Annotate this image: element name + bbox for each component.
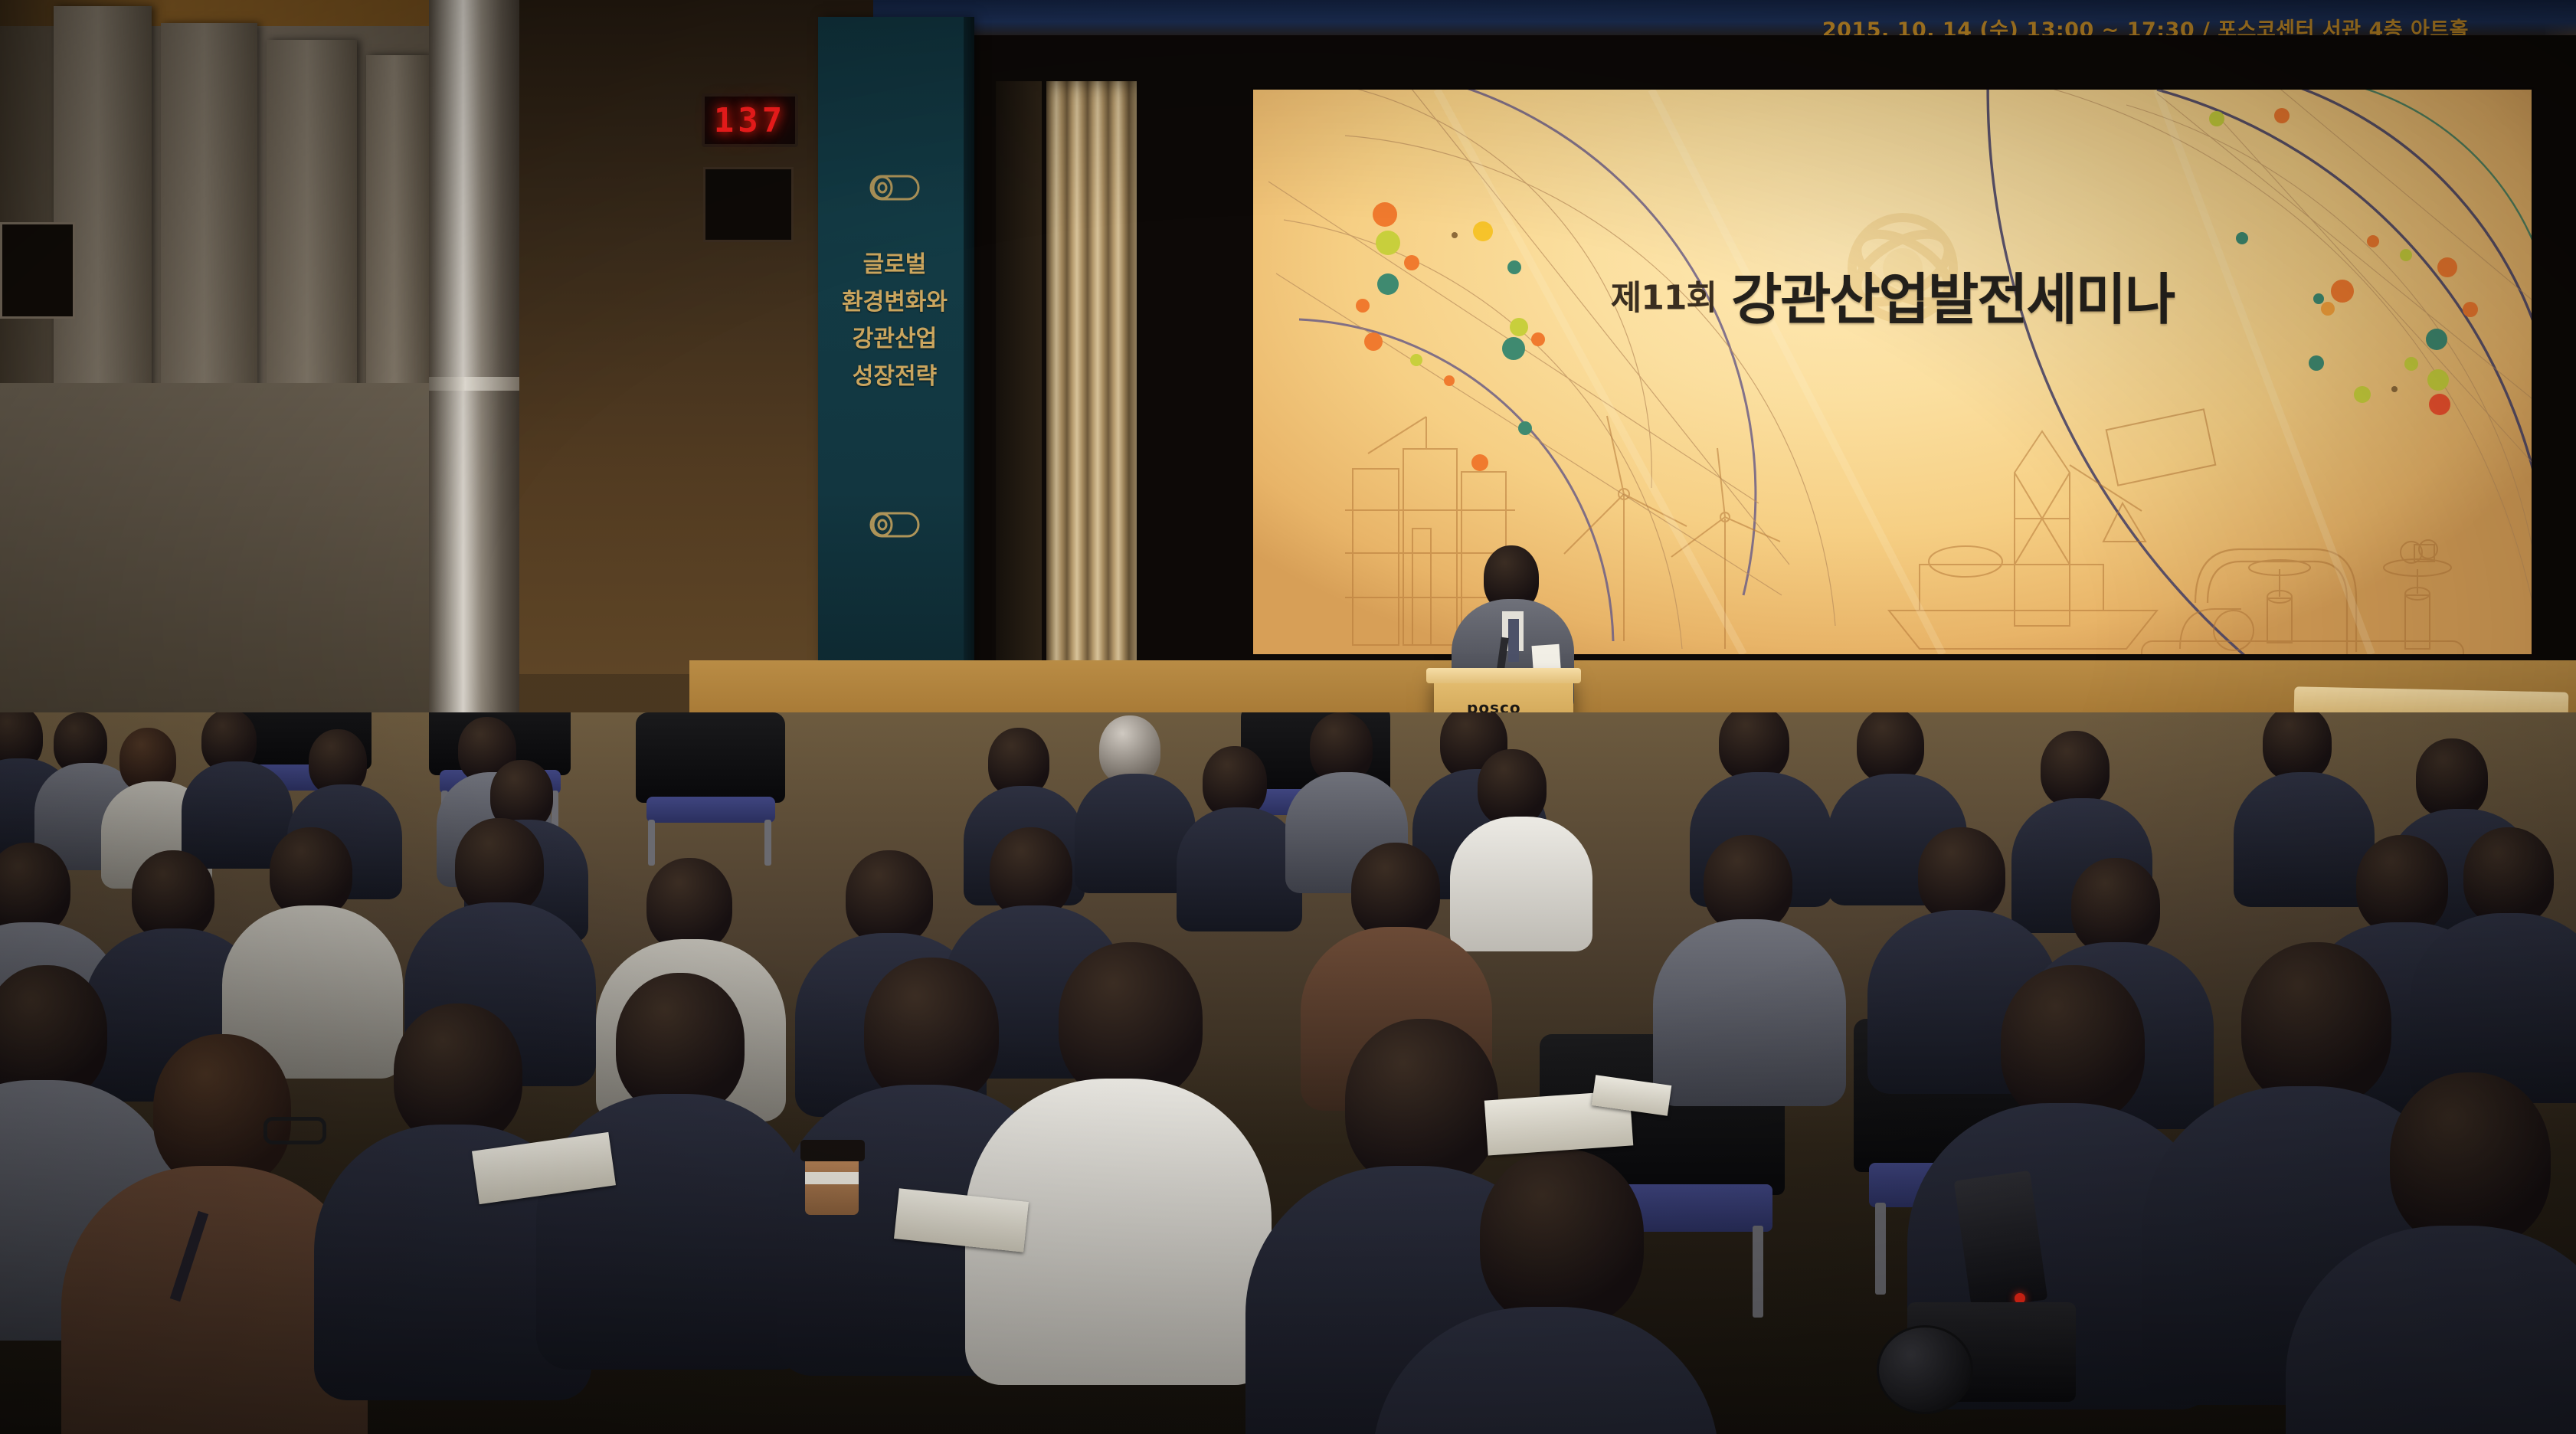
audience-head bbox=[132, 850, 214, 941]
audience-head bbox=[2416, 738, 2488, 818]
side-banner: 글로벌 환경변화와 강관산업 성장전략 bbox=[818, 17, 971, 691]
stage-curtain bbox=[1046, 81, 1137, 686]
wall-vent-icon bbox=[0, 222, 75, 319]
audience-member bbox=[1685, 835, 1846, 1042]
audience-head bbox=[153, 1034, 291, 1187]
chair[interactable] bbox=[636, 712, 789, 858]
audience-head bbox=[2390, 1072, 2551, 1247]
led-clock: 137 bbox=[702, 93, 798, 147]
audience-head bbox=[1857, 712, 1924, 783]
audience-head bbox=[455, 818, 544, 915]
audience-head bbox=[2001, 965, 2145, 1123]
acoustic-panel bbox=[161, 23, 257, 406]
audience-area bbox=[0, 712, 2576, 1434]
audience-member bbox=[195, 712, 287, 840]
coffee-cup-sleeve bbox=[805, 1172, 859, 1184]
audience-head bbox=[1918, 827, 2005, 922]
audience-head bbox=[2041, 731, 2110, 807]
side-banner-line-1: 글로벌 bbox=[818, 247, 971, 284]
curtain-shadow bbox=[996, 81, 1042, 686]
audience-head bbox=[2356, 835, 2448, 935]
side-banner-line-4: 성장전략 bbox=[818, 358, 971, 396]
audience-head bbox=[2263, 712, 2332, 781]
side-banner-line-3: 강관산업 bbox=[818, 321, 971, 358]
dslr-camera[interactable] bbox=[1892, 1203, 2122, 1425]
audience-body bbox=[1653, 919, 1846, 1106]
audience-head bbox=[2071, 858, 2160, 954]
led-clock-value: 137 bbox=[714, 101, 786, 140]
coffee-cup-lid bbox=[800, 1140, 865, 1161]
audience-head bbox=[2463, 827, 2554, 925]
audience-member bbox=[1019, 942, 1279, 1302]
wall-control-panel bbox=[703, 167, 794, 242]
eyeglasses-icon bbox=[263, 1117, 326, 1144]
pipeline-valve-icon bbox=[2106, 409, 2463, 654]
side-banner-text: 글로벌 환경변화와 강관산업 성장전략 bbox=[818, 247, 971, 395]
audience-body bbox=[1177, 807, 1302, 931]
chair-seat bbox=[646, 797, 775, 823]
audience-member bbox=[1302, 712, 1402, 850]
side-banner-line-2: 환경변화와 bbox=[818, 284, 971, 322]
audience-head bbox=[394, 1003, 522, 1144]
audience-member bbox=[437, 818, 597, 1025]
audience-head bbox=[616, 973, 745, 1114]
audience-member bbox=[253, 827, 406, 1026]
acoustic-panel bbox=[366, 55, 429, 408]
audience-head bbox=[1719, 712, 1789, 781]
side-banner-edge bbox=[964, 17, 974, 691]
audience-head bbox=[864, 958, 999, 1105]
audience-member bbox=[1432, 1149, 1723, 1434]
audience-head bbox=[1704, 835, 1792, 931]
coffee-cup[interactable] bbox=[800, 1134, 865, 1218]
audience-body bbox=[536, 1094, 813, 1370]
audience-head bbox=[646, 858, 732, 951]
event-banner: 2015. 10. 14 (수) 13:00 ~ 17:30 / 포스코센터 서… bbox=[873, 0, 2576, 40]
acoustic-panel bbox=[54, 6, 152, 404]
chair-leg bbox=[1753, 1226, 1763, 1318]
conference-hall-photo: 137 2015. 10. 14 (수) 13:00 ~ 17:30 / 포스코… bbox=[0, 0, 2576, 1434]
seminar-title: 제11회 강관산업발전세미나 bbox=[1253, 254, 2532, 335]
column-band bbox=[429, 377, 519, 391]
audience-head bbox=[1351, 843, 1440, 939]
oil-rig-icon bbox=[1889, 431, 2157, 649]
audience-head bbox=[1478, 749, 1547, 826]
audience-member bbox=[2344, 1072, 2576, 1434]
audience-head bbox=[0, 843, 70, 935]
chair-back bbox=[636, 712, 785, 803]
audience-head bbox=[1059, 942, 1203, 1100]
speaker-tie bbox=[1508, 619, 1519, 662]
audience-member bbox=[1195, 746, 1295, 884]
seminar-title-prefix: 제11회 bbox=[1611, 279, 1717, 318]
audience-head bbox=[846, 850, 933, 945]
wind-turbine-icon bbox=[1564, 416, 1687, 641]
center-podium-top bbox=[1426, 668, 1581, 683]
steel-pipe-icon bbox=[868, 170, 921, 205]
screen-graphics bbox=[1253, 90, 2532, 654]
acoustic-panel bbox=[267, 40, 357, 408]
audience-head bbox=[990, 827, 1072, 918]
audience-head bbox=[270, 827, 352, 918]
seminar-title-main: 강관산업발전세미나 bbox=[1731, 267, 2174, 332]
camera-lens-icon bbox=[1877, 1325, 1973, 1414]
steel-pipe-icon bbox=[868, 507, 921, 542]
chair-leg bbox=[1875, 1203, 1886, 1295]
audience-head bbox=[1480, 1149, 1644, 1327]
projection-screen: 제11회 강관산업발전세미나 bbox=[1253, 90, 2532, 654]
